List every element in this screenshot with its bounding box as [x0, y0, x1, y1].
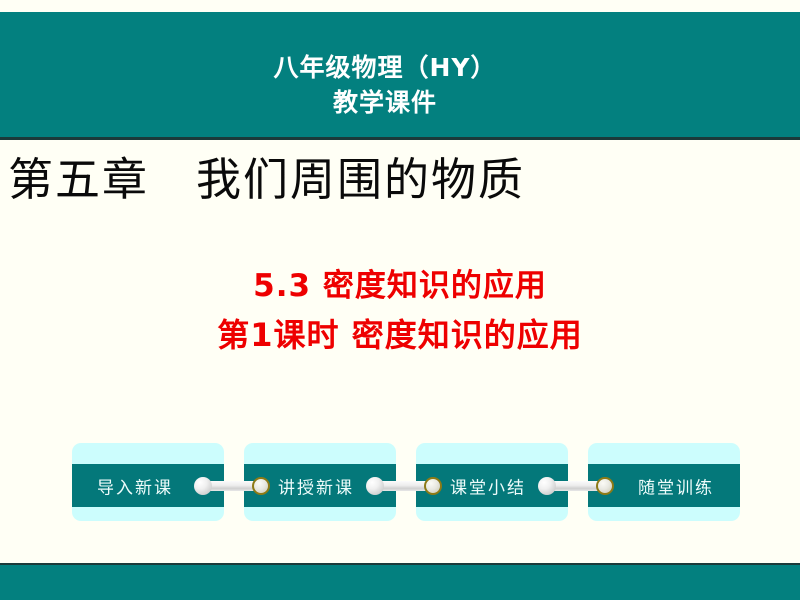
connector-knob-silver-icon — [538, 477, 556, 495]
page-title-line-1: 5.3 密度知识的应用 — [0, 262, 800, 311]
connector-knob-silver-icon — [366, 477, 384, 495]
connector-knob-gold-icon — [596, 477, 614, 495]
header-subject-block: 八年级物理（HY） 教学课件 — [0, 50, 800, 120]
nav-connector-icon — [194, 477, 270, 495]
presentation-slide: 八年级物理（HY） 教学课件 第五章 我们周围的物质 5.3 密度知识的应用 第… — [0, 0, 800, 600]
header-banner: 八年级物理（HY） 教学课件 — [0, 12, 800, 140]
footer-banner — [0, 563, 800, 600]
connector-knob-gold-icon — [424, 477, 442, 495]
chapter-title: 第五章 我们周围的物质 — [8, 152, 525, 208]
page-title: 5.3 密度知识的应用 第1课时 密度知识的应用 — [0, 262, 800, 360]
header-subject-line-1: 八年级物理（HY） — [0, 50, 770, 85]
connector-knob-gold-icon — [252, 477, 270, 495]
nav-connector-icon — [538, 477, 614, 495]
connector-knob-silver-icon — [194, 477, 212, 495]
nav-connector-icon — [366, 477, 442, 495]
header-subject-line-2: 教学课件 — [0, 85, 770, 120]
page-title-line-2: 第1课时 密度知识的应用 — [0, 311, 800, 360]
section-nav: 导入新课 讲授新课 课堂小结 随堂训练 — [72, 443, 740, 521]
